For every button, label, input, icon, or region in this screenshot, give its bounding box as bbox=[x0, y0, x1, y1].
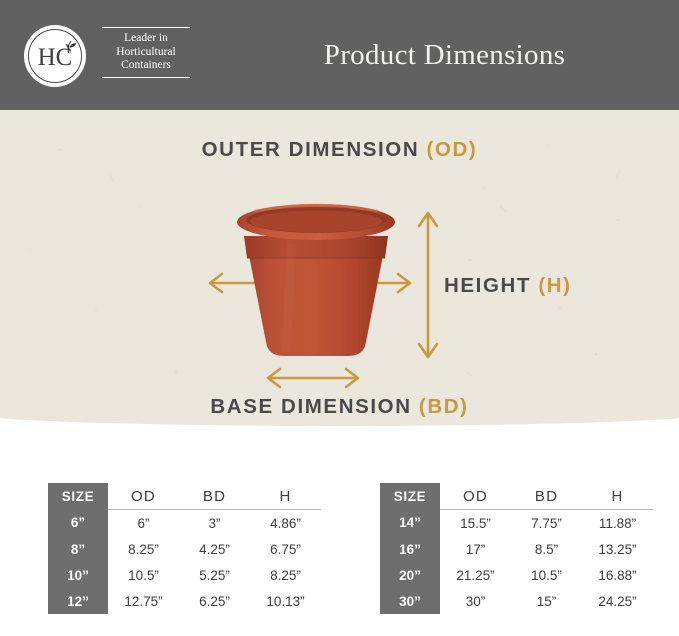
tagline-text: Leader in Horticultural Containers bbox=[98, 28, 194, 76]
diagram-panel: OUTER DIMENSION (OD) HEIGHT (H) BASE DIM… bbox=[0, 110, 679, 440]
base-dimension-label: BASE DIMENSION (BD) bbox=[0, 395, 679, 419]
page-title: Product Dimensions bbox=[210, 0, 679, 110]
brand-logo: HC bbox=[24, 25, 86, 87]
pot-interior bbox=[250, 211, 382, 233]
cell-od: 6” bbox=[108, 510, 179, 537]
table-header-row: SIZE OD BD H bbox=[380, 483, 653, 510]
cell-h: 8.25” bbox=[250, 562, 321, 588]
cell-size: 12” bbox=[48, 588, 108, 614]
cell-bd: 3” bbox=[179, 510, 250, 537]
pot-body-highlight bbox=[286, 244, 292, 352]
cell-od: 17” bbox=[440, 536, 511, 562]
leaf-icon bbox=[59, 39, 77, 55]
cell-od: 8.25” bbox=[108, 536, 179, 562]
table-row: 6” 6” 3” 4.86” bbox=[48, 510, 321, 537]
outer-dimension-text: OUTER DIMENSION bbox=[202, 138, 420, 161]
spec-table-right: SIZE OD BD H 14” 15.5” 7.75” 11.88” 16” … bbox=[380, 483, 653, 614]
cell-h: 11.88” bbox=[582, 510, 653, 537]
cell-h: 4.86” bbox=[250, 510, 321, 537]
logo-monogram: HC bbox=[24, 25, 86, 87]
base-dimension-abbr: (BD) bbox=[419, 395, 469, 418]
cell-od: 12.75” bbox=[108, 588, 179, 614]
outer-dimension-abbr: (OD) bbox=[427, 138, 478, 161]
cell-od: 15.5” bbox=[440, 510, 511, 537]
table-row: 8” 8.25” 4.25” 6.75” bbox=[48, 536, 321, 562]
height-dimension-abbr: (H) bbox=[538, 274, 571, 297]
cell-bd: 7.75” bbox=[511, 510, 582, 537]
cell-od: 10.5” bbox=[108, 562, 179, 588]
cell-bd: 4.25” bbox=[179, 536, 250, 562]
spec-table: SIZE OD BD H 6” 6” 3” 4.86” 8” 8.25” 4.2… bbox=[48, 483, 321, 614]
cell-bd: 6.25” bbox=[179, 588, 250, 614]
cell-size: 30” bbox=[380, 588, 440, 614]
height-dimension-text: HEIGHT bbox=[444, 274, 531, 297]
spec-table-left: SIZE OD BD H 6” 6” 3” 4.86” 8” 8.25” 4.2… bbox=[48, 483, 321, 614]
cell-od: 21.25” bbox=[440, 562, 511, 588]
outer-dimension-label: OUTER DIMENSION (OD) bbox=[0, 138, 679, 162]
tagline-rule-bottom bbox=[102, 77, 190, 78]
table-row: 10” 10.5” 5.25” 8.25” bbox=[48, 562, 321, 588]
cell-size: 10” bbox=[48, 562, 108, 588]
table-row: 16” 17” 8.5” 13.25” bbox=[380, 536, 653, 562]
cell-od: 30” bbox=[440, 588, 511, 614]
cell-bd: 15” bbox=[511, 588, 582, 614]
cell-h: 13.25” bbox=[582, 536, 653, 562]
column-header-od: OD bbox=[108, 483, 179, 510]
brand-tagline: Leader in Horticultural Containers bbox=[98, 27, 194, 78]
cell-size: 8” bbox=[48, 536, 108, 562]
cell-bd: 5.25” bbox=[179, 562, 250, 588]
column-header-size: SIZE bbox=[380, 483, 440, 510]
cell-h: 24.25” bbox=[582, 588, 653, 614]
table-row: 20” 21.25” 10.5” 16.88” bbox=[380, 562, 653, 588]
column-header-bd: BD bbox=[511, 483, 582, 510]
cell-size: 16” bbox=[380, 536, 440, 562]
spec-table: SIZE OD BD H 14” 15.5” 7.75” 11.88” 16” … bbox=[380, 483, 653, 614]
column-header-size: SIZE bbox=[48, 483, 108, 510]
cell-h: 10.13” bbox=[250, 588, 321, 614]
column-header-od: OD bbox=[440, 483, 511, 510]
height-dimension-arrow bbox=[415, 205, 441, 365]
header-bar: HC Leader in Horticultural Containers Pr… bbox=[0, 0, 679, 110]
column-header-h: H bbox=[582, 483, 653, 510]
cell-h: 16.88” bbox=[582, 562, 653, 588]
table-row: 14” 15.5” 7.75” 11.88” bbox=[380, 510, 653, 537]
cell-h: 6.75” bbox=[250, 536, 321, 562]
cell-size: 20” bbox=[380, 562, 440, 588]
planter-pot-illustration bbox=[216, 196, 416, 376]
cell-size: 6” bbox=[48, 510, 108, 537]
cell-bd: 10.5” bbox=[511, 562, 582, 588]
product-dimensions-infographic: HC Leader in Horticultural Containers Pr… bbox=[0, 0, 679, 636]
base-dimension-text: BASE DIMENSION bbox=[210, 395, 411, 418]
column-header-bd: BD bbox=[179, 483, 250, 510]
table-row: 30” 30” 15” 24.25” bbox=[380, 588, 653, 614]
table-row: 12” 12.75” 6.25” 10.13” bbox=[48, 588, 321, 614]
column-header-h: H bbox=[250, 483, 321, 510]
cell-size: 14” bbox=[380, 510, 440, 537]
table-header-row: SIZE OD BD H bbox=[48, 483, 321, 510]
height-dimension-label: HEIGHT (H) bbox=[444, 274, 572, 298]
cell-bd: 8.5” bbox=[511, 536, 582, 562]
